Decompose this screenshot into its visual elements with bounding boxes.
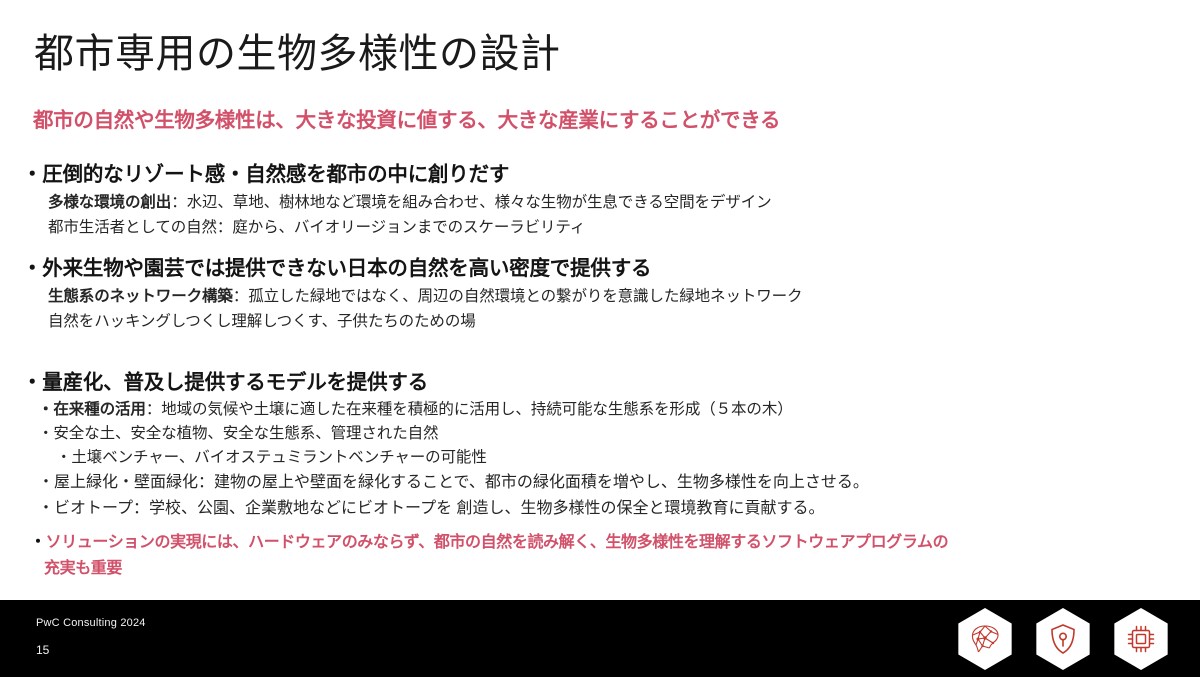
section-1-line-2-rest: 都市生活者としての自然：庭から、バイオリージョンまでのスケーラビリティ xyxy=(48,219,585,236)
section-1: ・圧倒的なリゾート感・自然感を都市の中に創りだす 多様な環境の創出：水辺、草地、… xyxy=(0,160,1200,240)
section-2: ・外来生物や園芸では提供できない日本の自然を高い密度で提供する 生態系のネットワ… xyxy=(0,254,1200,334)
cpu-chip-icon xyxy=(1110,608,1172,670)
section-2-heading: ・外来生物や園芸では提供できない日本の自然を高い密度で提供する xyxy=(22,254,1200,284)
footer-brand: PwC Consulting 2024 xyxy=(36,617,146,629)
page-number: 15 xyxy=(36,643,49,657)
section-3-heading: ・量産化、普及し提供するモデルを提供する xyxy=(22,368,1200,398)
section-1-line-1-rest: ：水辺、草地、樹林地など環境を組み合わせ、様々な生物が生息できる空間をデザイン xyxy=(171,194,771,211)
final-note-line-2: 充実も重要 xyxy=(44,556,1160,582)
footer-bar: PwC Consulting 2024 15 xyxy=(0,600,1200,677)
section-2-line-2-rest: 自然をハッキングしつくし理解しつくす、子供たちのための場 xyxy=(48,313,476,330)
shield-keyhole-icon xyxy=(1032,608,1094,670)
slide-body: 都市の自然や生物多様性は、大きな投資に値する、大きな産業にすることができる ・圧… xyxy=(0,106,1200,596)
section-3-item-1-bold: ・在来種の活用 xyxy=(38,401,146,418)
section-1-line-1: 多様な環境の創出：水辺、草地、樹林地など環境を組み合わせ、様々な生物が生息できる… xyxy=(48,190,1200,215)
section-1-line-2: 都市生活者としての自然：庭から、バイオリージョンまでのスケーラビリティ xyxy=(48,215,1200,240)
section-2-line-1-bold: 生態系のネットワーク構築 xyxy=(48,288,233,305)
lead-statement: 都市の自然や生物多様性は、大きな投資に値する、大きな産業にすることができる xyxy=(33,106,1200,136)
section-1-heading: ・圧倒的なリゾート感・自然感を都市の中に創りだす xyxy=(22,160,1200,190)
section-2-line-1: 生態系のネットワーク構築：孤立した緑地ではなく、周辺の自然環境との繋がりを意識し… xyxy=(48,284,1200,309)
section-3: ・量産化、普及し提供するモデルを提供する ・在来種の活用：地域の気候や土壌に適し… xyxy=(0,368,1200,522)
section-2-line-1-rest: ：孤立した緑地ではなく、周辺の自然環境との繋がりを意識した緑地ネットワーク xyxy=(233,288,803,305)
slide-root: 都市専用の生物多様性の設計 都市の自然や生物多様性は、大きな投資に値する、大きな… xyxy=(0,0,1200,677)
section-3-item-2: ・安全な土、安全な植物、安全な生態系、管理された自然 xyxy=(38,422,1200,446)
final-note-line-1: ソリューションの実現には、ハードウェアのみならず、都市の自然を読み解く、生物多様… xyxy=(46,534,949,551)
final-note: ・ソリューションの実現には、ハードウェアのみならず、都市の自然を読み解く、生物多… xyxy=(30,530,1160,582)
section-3-item-5: ・ビオトープ：学校、公園、企業敷地などにビオトープを 創造し、生物多様性の保全と… xyxy=(38,496,1200,522)
section-3-item-4: ・屋上緑化・壁面緑化：建物の屋上や壁面を緑化することで、都市の緑化面積を増やし、… xyxy=(38,470,1200,496)
page-title: 都市専用の生物多様性の設計 xyxy=(34,28,561,80)
section-3-item-1: ・在来種の活用：地域の気候や土壌に適した在来種を積極的に活用し、持続可能な生態系… xyxy=(38,398,1200,422)
section-3-item-3: ・土壌ベンチャー、バイオステュミラントベンチャーの可能性 xyxy=(56,446,1200,470)
final-note-bullet: ・ xyxy=(30,534,46,551)
footer-icon-row xyxy=(954,608,1172,670)
section-1-line-1-bold: 多様な環境の創出 xyxy=(48,194,171,211)
section-3-item-1-rest: ：地域の気候や土壌に適した在来種を積極的に活用し、持続可能な生態系を形成（５本の… xyxy=(146,401,793,418)
brain-network-icon xyxy=(954,608,1016,670)
section-2-line-2: 自然をハッキングしつくし理解しつくす、子供たちのための場 xyxy=(48,309,1200,334)
